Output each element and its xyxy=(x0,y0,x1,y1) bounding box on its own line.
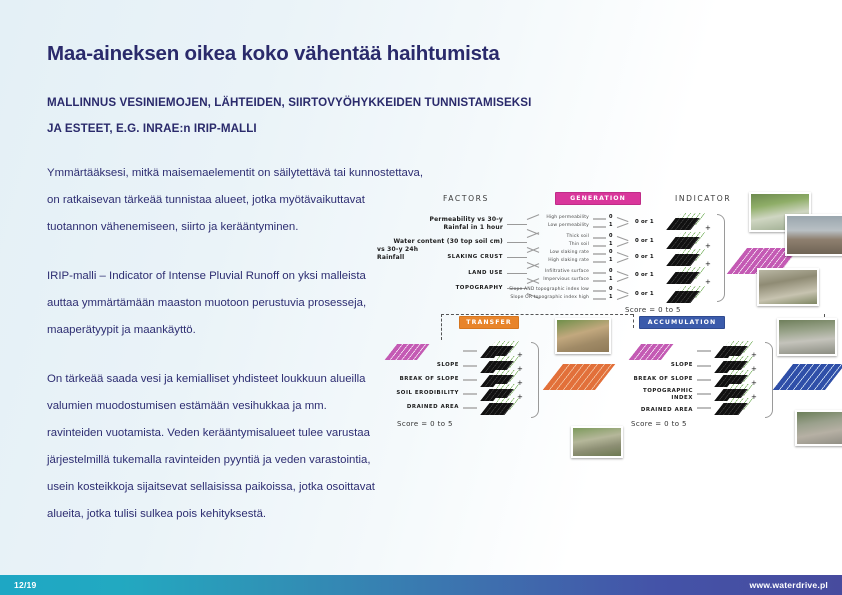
generation-bit-8: 0 xyxy=(609,286,612,292)
merge-line xyxy=(617,295,629,300)
accumulation-input-raster xyxy=(629,344,674,360)
paragraph-2-line-3: maaperätyypit ja maankäyttö. xyxy=(47,317,437,344)
generation-class-label-5: High slaking rate xyxy=(483,258,589,265)
paragraph-2-line-2: auttaa ymmärtämään maaston muotoon perus… xyxy=(47,290,437,317)
transfer-score-label: Score = 0 to 5 xyxy=(397,420,453,428)
plus-sign: + xyxy=(517,393,523,401)
plus-sign: + xyxy=(705,224,711,232)
bit-line xyxy=(593,218,606,220)
accumulation-score-label: Score = 0 to 5 xyxy=(631,420,687,428)
bit-line xyxy=(593,226,606,228)
irip-model-diagram: FACTORS INDICATOR GENERATION Permeabilit… xyxy=(385,186,842,486)
indicator-value-3: 0 or 1 xyxy=(635,272,654,278)
paragraph-1-line-1: Ymmärtääksesi, mitkä maisemaelementit on… xyxy=(47,160,437,187)
bit-line xyxy=(593,253,606,255)
subtitle-line-2: JA ESTEET, E.G. INRAE:n IRIP-MALLI xyxy=(47,116,647,142)
transfer-factor-slope: SLOPE xyxy=(375,362,459,369)
factor-label-water-content-2: vs 30-y 24h xyxy=(377,246,437,253)
plus-sign: + xyxy=(751,379,757,387)
plus-sign: + xyxy=(705,242,711,250)
bit-line xyxy=(593,280,606,282)
paragraph-1: Ymmärtääksesi, mitkä maisemaelementit on… xyxy=(47,160,437,241)
bit-line xyxy=(593,261,606,263)
generation-class-label-7: Impervious surface xyxy=(483,277,589,284)
merge-line xyxy=(617,271,629,276)
subtitle-line-1: MALLINNUS VESINIEMOJEN, LÄHTEIDEN, SIIRT… xyxy=(47,90,647,116)
footer-website-link[interactable]: www.waterdrive.pl xyxy=(749,580,828,590)
plus-sign: + xyxy=(517,351,523,359)
plus-sign: + xyxy=(751,351,757,359)
grouping-brace xyxy=(531,342,539,418)
bit-line xyxy=(593,245,606,247)
generation-badge: GENERATION xyxy=(555,192,641,205)
flow-connector xyxy=(441,314,633,315)
accumulation-factor-break-of-slope: BREAK OF SLOPE xyxy=(609,376,693,383)
page-number: 12/19 xyxy=(14,580,37,590)
bit-line xyxy=(593,237,606,239)
merge-line xyxy=(617,277,629,282)
paragraph-3-line-4: järjestelmillä tukemalla ravinteiden pyy… xyxy=(47,447,437,474)
connector-line xyxy=(697,407,711,409)
plus-sign: + xyxy=(705,260,711,268)
indicator-value-4: 0 or 1 xyxy=(635,291,654,297)
connector-line xyxy=(697,379,711,381)
merge-line xyxy=(617,217,629,222)
connector-line xyxy=(463,407,477,409)
connector-line xyxy=(697,393,711,395)
merge-line xyxy=(617,223,629,228)
paragraph-2: IRIP-malli – Indicator of Intense Pluvia… xyxy=(47,263,437,344)
paragraph-1-line-3: tuotannon vähenemiseen, siirto ja kerään… xyxy=(47,214,437,241)
plus-sign: + xyxy=(517,365,523,373)
accumulation-result-raster xyxy=(773,364,842,390)
plus-sign: + xyxy=(517,379,523,387)
grouping-brace xyxy=(717,214,725,302)
paragraph-3-line-6: alueita, jotka tulisi sulkea pois kehity… xyxy=(47,501,437,528)
flow-arrow-transfer xyxy=(441,314,442,340)
bit-line xyxy=(593,298,606,300)
generation-bit-5: 1 xyxy=(609,257,612,263)
photo-accumulation-road xyxy=(777,318,837,356)
photo-landslide xyxy=(795,410,842,446)
connector-line xyxy=(463,379,477,381)
plus-sign: + xyxy=(751,393,757,401)
plus-sign: + xyxy=(705,278,711,286)
paragraph-3-line-3: ravinteiden vuotamista. Veden kerääntymi… xyxy=(47,420,437,447)
generation-bit-2: 0 xyxy=(609,233,612,239)
merge-line xyxy=(617,289,629,294)
connector-line xyxy=(463,350,477,352)
bit-line xyxy=(593,290,606,292)
indicator-value-0: 0 or 1 xyxy=(635,219,654,225)
generation-bit-9: 1 xyxy=(609,294,612,300)
generation-bit-1: 1 xyxy=(609,222,612,228)
paragraph-3-line-5: usein kosteikkoja sijaitsevat sellaisiss… xyxy=(47,474,437,501)
indicator-value-2: 0 or 1 xyxy=(635,254,654,260)
photo-gully-erosion xyxy=(555,318,611,354)
accumulation-badge: ACCUMULATION xyxy=(639,316,725,329)
paragraph-2-line-1: IRIP-malli – Indicator of Intense Pluvia… xyxy=(47,263,437,290)
generation-class-label-2: Thick soil xyxy=(483,234,589,241)
photo-track-erosion xyxy=(757,268,819,306)
accumulation-factor-drained-area: DRAINED AREA xyxy=(609,407,693,414)
merge-line xyxy=(617,242,629,247)
merge-line xyxy=(617,236,629,241)
photo-eroded-road xyxy=(785,214,842,256)
generation-bit-4: 0 xyxy=(609,249,612,255)
slide-footer: 12/19 www.waterdrive.pl xyxy=(0,575,842,595)
connector-line xyxy=(463,365,477,367)
generation-bit-7: 1 xyxy=(609,276,612,282)
connector-line xyxy=(697,350,711,352)
merge-line xyxy=(617,252,629,257)
accumulation-factor-index: INDEX xyxy=(609,395,693,402)
generation-class-label-6: Infiltrative surface xyxy=(483,269,589,276)
generation-bit-3: 1 xyxy=(609,241,612,247)
accumulation-factor-slope: SLOPE xyxy=(609,362,693,369)
transfer-factor-soil-erodibility: SOIL ERODIBILITY xyxy=(375,390,459,397)
generation-class-label-0: High permeability xyxy=(483,215,589,222)
transfer-input-raster xyxy=(385,344,430,360)
generation-class-label-4: Low slaking rate xyxy=(483,250,589,257)
indicator-value-1: 0 or 1 xyxy=(635,238,654,244)
generation-bit-6: 0 xyxy=(609,268,612,274)
generation-class-label-1: Low permeability xyxy=(483,223,589,230)
generation-class-label-8: Slope AND topographic index low xyxy=(463,287,589,294)
merge-line xyxy=(617,258,629,263)
body-text-column: Ymmärtääksesi, mitkä maisemaelementit on… xyxy=(47,160,437,550)
transfer-result-raster xyxy=(543,364,615,390)
transfer-badge: TRANSFER xyxy=(459,316,519,329)
connector-line xyxy=(463,393,477,395)
generation-score-label: Score = 0 to 5 xyxy=(625,306,681,314)
transfer-factor-break-of-slope: BREAK OF SLOPE xyxy=(375,376,459,383)
photo-slope-transfer xyxy=(571,426,623,458)
grouping-brace xyxy=(765,342,773,418)
generation-bit-0: 0 xyxy=(609,214,612,220)
bit-line xyxy=(593,272,606,274)
page-title: Maa-aineksen oikea koko vähentää haihtum… xyxy=(47,42,500,66)
diagram-column-header-indicator: INDICATOR xyxy=(675,194,731,203)
slide-subtitle: MALLINNUS VESINIEMOJEN, LÄHTEIDEN, SIIRT… xyxy=(47,90,647,142)
transfer-factor-drained-area: DRAINED AREA xyxy=(375,404,459,411)
generation-class-label-9: Slope OR topographic index high xyxy=(463,295,589,302)
plus-sign: + xyxy=(751,365,757,373)
paragraph-1-line-2: on ratkaisevan tärkeää tunnistaa alueet,… xyxy=(47,187,437,214)
generation-class-label-3: Thin soil xyxy=(483,242,589,249)
connector-line xyxy=(697,365,711,367)
diagram-column-header-factors: FACTORS xyxy=(443,194,489,203)
